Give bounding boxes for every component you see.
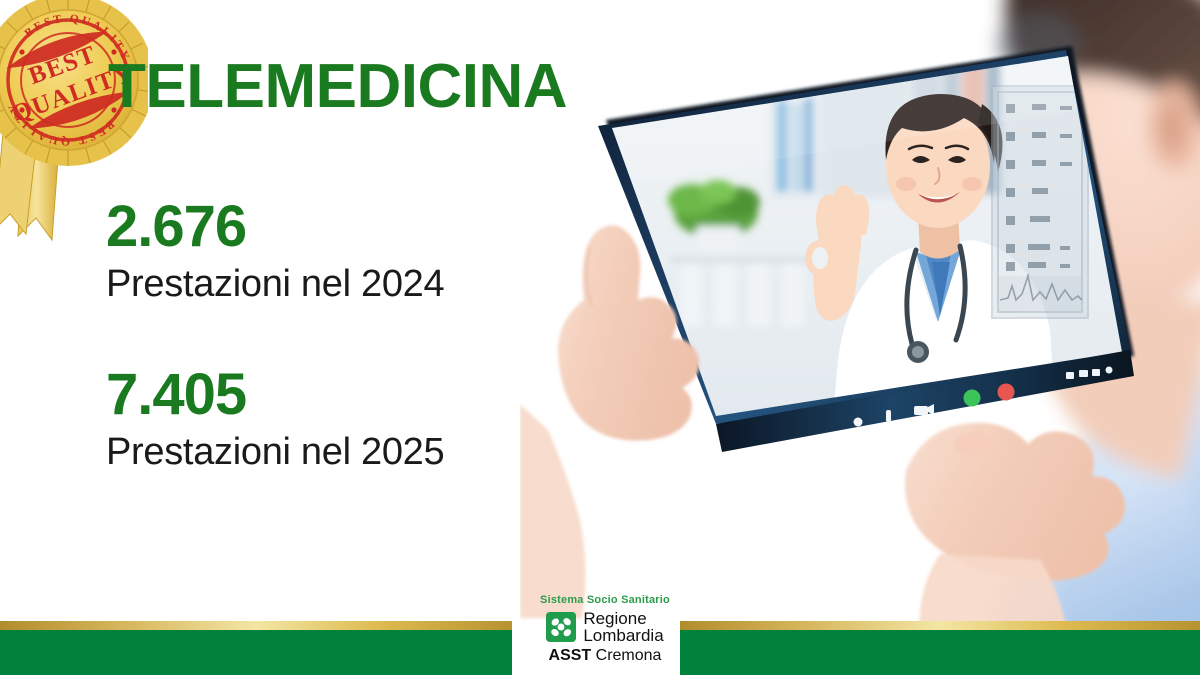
stat-block-2025: 7.405 Prestazioni nel 2025 [106,364,444,474]
stat-label-2024: Prestazioni nel 2024 [106,263,444,307]
asst-cremona-logo: Sistema Socio Sanitario Regione Lombardi… [520,594,690,665]
regione-lombardia-flower-icon [546,612,576,642]
footer-gold-stripe-right [680,621,1200,630]
logo-org-acronym: ASST [549,647,592,664]
video-camera-icon [914,406,928,415]
footer-green-band-left [0,630,512,675]
telemedicine-video-call-photo [520,0,1200,640]
footer-bar-right [680,621,1200,675]
page-title: TELEMEDICINA [108,56,567,118]
logo-org-line: ASST Cremona [520,647,690,665]
footer-gold-stripe-left [0,621,512,630]
footer-green-band-right [680,630,1200,675]
stat-block-2024: 2.676 Prestazioni nel 2024 [106,196,444,306]
end-call-button [998,384,1015,401]
slide-canvas: BEST QUALITY BEST QUALITY BEST QUALITY [0,0,1200,675]
mic-icon [854,418,863,427]
logo-org-city: Cremona [591,647,661,664]
logo-brand-line-2: Lombardia [583,626,663,645]
microphone-icon [886,410,891,422]
logo-brand-name: Regione Lombardia [583,610,663,644]
footer-bar-left [0,621,512,675]
stat-value-2025: 7.405 [106,364,444,427]
stat-value-2024: 2.676 [106,196,444,259]
logo-system-line: Sistema Socio Sanitario [520,594,690,606]
answer-call-button [964,390,981,407]
stat-label-2025: Prestazioni nel 2025 [106,431,444,475]
